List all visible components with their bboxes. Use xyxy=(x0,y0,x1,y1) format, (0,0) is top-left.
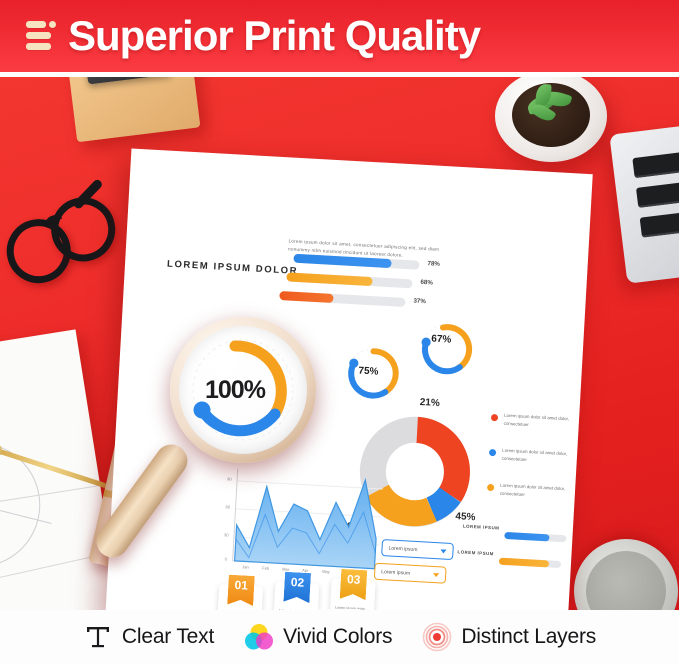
donut-legend: Lorem ipsum dolor sit amet dolor, consec… xyxy=(486,411,578,521)
desk-scene: Lorem ipsum dolor sit amet, consectetuer… xyxy=(0,77,679,610)
clipboard-icon xyxy=(68,77,201,142)
ribbon-icon: 01 xyxy=(227,575,255,606)
magnifier-value: 100% xyxy=(205,376,265,405)
bar-value-1: 68% xyxy=(420,279,433,287)
document-title: LOREM IPSUM DOLOR xyxy=(167,259,299,277)
gauge-label-75: 75% xyxy=(358,365,379,377)
feature-label: Vivid Colors xyxy=(283,625,392,649)
legend-dot-icon xyxy=(487,484,494,491)
y-tick-1: 30 xyxy=(224,532,229,537)
donut-label-21: 21% xyxy=(419,397,440,409)
page-title: Superior Print Quality xyxy=(68,15,480,57)
color-circles-icon xyxy=(244,622,274,652)
header-banner: Superior Print Quality xyxy=(0,0,679,72)
area-chart: 0 30 60 90 Jan Feb Mar Apr May Jun Jul xyxy=(218,460,390,585)
mug-icon xyxy=(574,539,678,610)
laptop-icon xyxy=(609,120,679,284)
feature-label: Distinct Layers xyxy=(461,625,596,649)
magnifier-lens: 100% xyxy=(179,326,307,454)
progress-label-1: LOREM IPSUM xyxy=(457,549,494,556)
card-01[interactable]: 01 Lorem ipsum dolor sit amet consectetu… xyxy=(216,584,263,610)
ribbon-icon: 02 xyxy=(283,572,311,603)
legend-dot-icon xyxy=(491,414,498,421)
card-03[interactable]: 03 Lorem ipsum dolor sit amet consectetu… xyxy=(329,578,376,610)
legend-item: Lorem ipsum dolor sit amet dolor, consec… xyxy=(486,481,573,513)
chevron-down-icon xyxy=(433,573,439,577)
legend-text: Lorem ipsum dolor sit amet dolor, consec… xyxy=(502,447,573,467)
legend-text: Lorem ipsum dolor sit amet dolor, consec… xyxy=(500,482,571,502)
bar-value-0: 78% xyxy=(427,260,440,268)
card-02[interactable]: 02 Lorem ipsum dolor sit amet consectetu… xyxy=(272,581,319,610)
feature-vivid-colors: Vivid Colors xyxy=(244,622,392,652)
y-tick-3: 90 xyxy=(227,476,232,481)
select-value: Lorem ipsum xyxy=(388,545,417,553)
concentric-rings-icon xyxy=(422,622,452,652)
select-value: Lorem ipsum xyxy=(381,569,410,577)
select-lorem-blue[interactable]: Lorem ipsum xyxy=(381,539,454,560)
legend-text: Lorem ipsum dolor sit amet dolor, consec… xyxy=(503,412,574,432)
y-tick-0: 0 xyxy=(225,556,228,561)
feature-label: Clear Text xyxy=(122,625,214,649)
gauge-chart-75: 75% xyxy=(339,341,405,411)
progress-fill-0 xyxy=(504,532,549,542)
text-type-icon xyxy=(83,622,113,652)
chevron-down-icon xyxy=(440,549,446,553)
x-tick-3: Apr xyxy=(302,568,309,573)
plant-icon xyxy=(495,77,607,162)
feature-footer: Clear Text Vivid Colors xyxy=(0,610,679,664)
footer-notch xyxy=(318,609,362,621)
x-tick-4: May xyxy=(322,569,330,574)
legend-item: Lorem ipsum dolor sit amet dolor, consec… xyxy=(488,446,575,478)
ribbon-icon: 03 xyxy=(340,569,368,600)
x-tick-0: Jan xyxy=(242,564,249,569)
x-tick-2: Mar xyxy=(282,567,289,572)
gauge-label-67: 67% xyxy=(431,334,452,346)
poster-stage: Superior Print Quality xyxy=(0,0,679,664)
legend-dot-icon xyxy=(489,449,496,456)
feature-clear-text: Clear Text xyxy=(83,622,214,652)
x-tick-1: Feb xyxy=(262,565,269,570)
bar-value-2: 37% xyxy=(413,297,426,305)
gauge-chart-67: 67% xyxy=(413,317,479,387)
clipboard-clip-icon xyxy=(83,77,171,84)
y-tick-2: 60 xyxy=(225,504,230,509)
magnifier-icon: 100% xyxy=(170,317,316,463)
feature-distinct-layers: Distinct Layers xyxy=(422,622,596,652)
donut-label-45: 45% xyxy=(455,511,476,523)
card-number: 01 xyxy=(234,578,248,593)
card-number: 02 xyxy=(290,575,304,590)
glasses-icon xyxy=(0,189,117,283)
list-bars-icon xyxy=(26,19,56,53)
progress-fill-1 xyxy=(499,558,549,568)
legend-item: Lorem ipsum dolor sit amet dolor, consec… xyxy=(490,411,577,443)
card-number: 03 xyxy=(347,572,361,587)
